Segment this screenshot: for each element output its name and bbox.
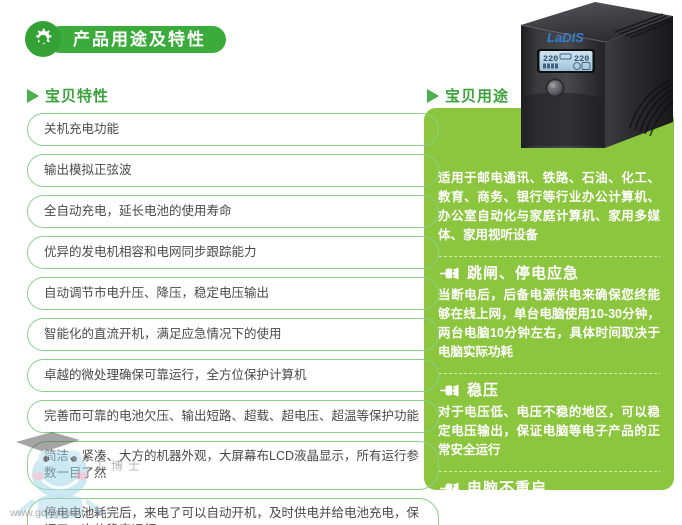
use-body: 当断电后，后备电源供电来确保您终能够在线上网，单台电脑使用10-30分钟，两台电…	[438, 286, 660, 362]
use-block-outage: 跳闸、停电应急 当断电后，后备电源供电来确保您终能够在线上网，单台电脑使用10-…	[438, 266, 660, 362]
section-divider	[438, 471, 660, 472]
ups-device-photo: LaDIS 220 220	[487, 0, 682, 152]
left-heading-label: 宝贝特性	[45, 85, 109, 106]
lcd-input-value: 220	[543, 54, 558, 64]
list-item: 全自动充电，延长电池的使用寿命	[27, 195, 439, 228]
right-heading-label: 宝贝用途	[445, 85, 509, 106]
gear-icon	[26, 22, 60, 56]
triangle-arrow-icon	[427, 89, 439, 103]
use-title: 电脑不重启	[467, 481, 547, 490]
plug-icon	[438, 266, 460, 281]
use-title: 稳压	[467, 383, 499, 398]
list-item: 智能化的直流开机，满足应急情况下的使用	[27, 318, 439, 351]
list-item: 卓越的微处理确保可靠运行，全方位保护计算机	[27, 359, 439, 392]
left-column-heading: 宝贝特性	[27, 85, 109, 106]
triangle-arrow-icon	[27, 89, 39, 103]
list-item: 自动调节市电升压、降压，稳定电压输出	[27, 277, 439, 310]
list-item: 输出模拟正弦波	[27, 154, 439, 187]
use-block-voltage-regulation: 稳压 对于电压低、电压不稳的地区，可以稳定电压输出，保证电脑等电子产品的正常安全…	[438, 383, 660, 460]
page-header-badge: 产品用途及特性	[26, 22, 226, 56]
use-block-no-restart: 电脑不重启 完美解决由于电压瞬间变化导致的电脑重启或者关机，比如开户空调、冰箱等…	[438, 481, 660, 490]
list-item: 简洁、紧凑、大方的机器外观，大屏幕布LCD液晶显示，所有运行参数一目了然	[27, 441, 439, 490]
product-feature-page: 产品用途及特性 宝贝特性 关机充电功能 输出模拟正弦波 全自动充电，延长电池的使…	[0, 0, 682, 525]
use-body: 对于电压低、电压不稳的地区，可以稳定电压输出，保证电脑等电子产品的正常安全运行	[438, 403, 660, 460]
section-divider	[438, 256, 660, 257]
uses-panel: 适用于邮电通讯、铁路、石油、化工、教育、商务、银行等行业办公计算机、办公室自动化…	[424, 108, 674, 490]
header-pill: 产品用途及特性	[47, 26, 226, 53]
right-column-heading: 宝贝用途	[427, 85, 509, 106]
ups-brand-label: LaDIS	[547, 30, 584, 45]
list-item: 完善而可靠的电池欠压、输出短路、超载、超电压、超温等保护功能	[27, 400, 439, 433]
use-title: 跳闸、停电应急	[467, 266, 579, 281]
plug-icon	[438, 383, 460, 398]
uses-intro-text: 适用于邮电通讯、铁路、石油、化工、教育、商务、银行等行业办公计算机、办公室自动化…	[438, 169, 660, 245]
section-divider	[438, 373, 660, 374]
page-title: 产品用途及特性	[73, 31, 206, 48]
list-item: 停电电池耗完后，来电了可以自动开机，及时供电并给电池充电，保证了二次的稳定运行	[27, 498, 439, 525]
feature-list: 关机充电功能 输出模拟正弦波 全自动充电，延长电池的使用寿命 优异的发电机相容和…	[27, 113, 439, 525]
list-item: 关机充电功能	[27, 113, 439, 146]
list-item: 优异的发电机相容和电网同步跟踪能力	[27, 236, 439, 269]
plug-icon	[438, 481, 460, 490]
